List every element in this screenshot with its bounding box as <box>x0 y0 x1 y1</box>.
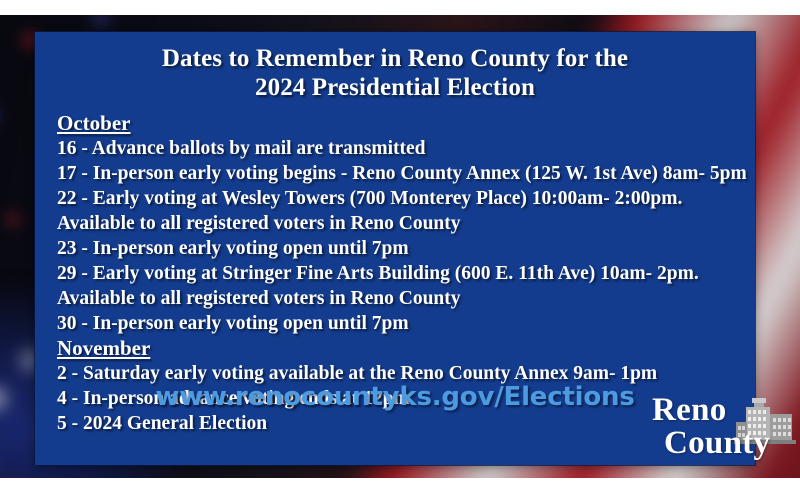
list-item: 17 - In-person early voting begins - Ren… <box>57 161 741 186</box>
title-line-2: 2024 Presidential Election <box>59 73 731 102</box>
logo-line-2: County <box>664 427 770 460</box>
top-letterbox-band <box>0 0 800 15</box>
bottom-letterbox-band <box>0 478 800 500</box>
slide-canvas: Dates to Remember in Reno County for the… <box>0 0 800 500</box>
title-line-1: Dates to Remember in Reno County for the <box>59 44 731 73</box>
list-item: 29 - Early voting at Stringer Fine Arts … <box>57 261 741 286</box>
logo-line-1: Reno <box>652 392 727 428</box>
month-heading-october: October <box>57 111 130 136</box>
page-title: Dates to Remember in Reno County for the… <box>35 32 755 102</box>
reno-county-logo: Reno County <box>648 392 800 470</box>
list-item: 16 - Advance ballots by mail are transmi… <box>57 136 741 161</box>
section-heading-row-october: October <box>57 111 741 136</box>
announcement-panel: Dates to Remember in Reno County for the… <box>35 32 755 465</box>
elections-website-url[interactable]: www.renocountyks.gov/Elections <box>35 382 755 412</box>
list-item: 5 - 2024 General Election <box>57 411 741 436</box>
logo-wordmark: Reno County <box>652 394 770 460</box>
list-item: 30 - In-person early voting open until 7… <box>57 311 741 336</box>
list-item: 22 - Early voting at Wesley Towers (700 … <box>57 186 741 211</box>
list-item: Available to all registered voters in Re… <box>57 211 741 236</box>
list-item: Available to all registered voters in Re… <box>57 286 741 311</box>
section-heading-row-november: November <box>57 336 741 361</box>
list-item: 23 - In-person early voting open until 7… <box>57 236 741 261</box>
month-heading-november: November <box>57 336 150 361</box>
